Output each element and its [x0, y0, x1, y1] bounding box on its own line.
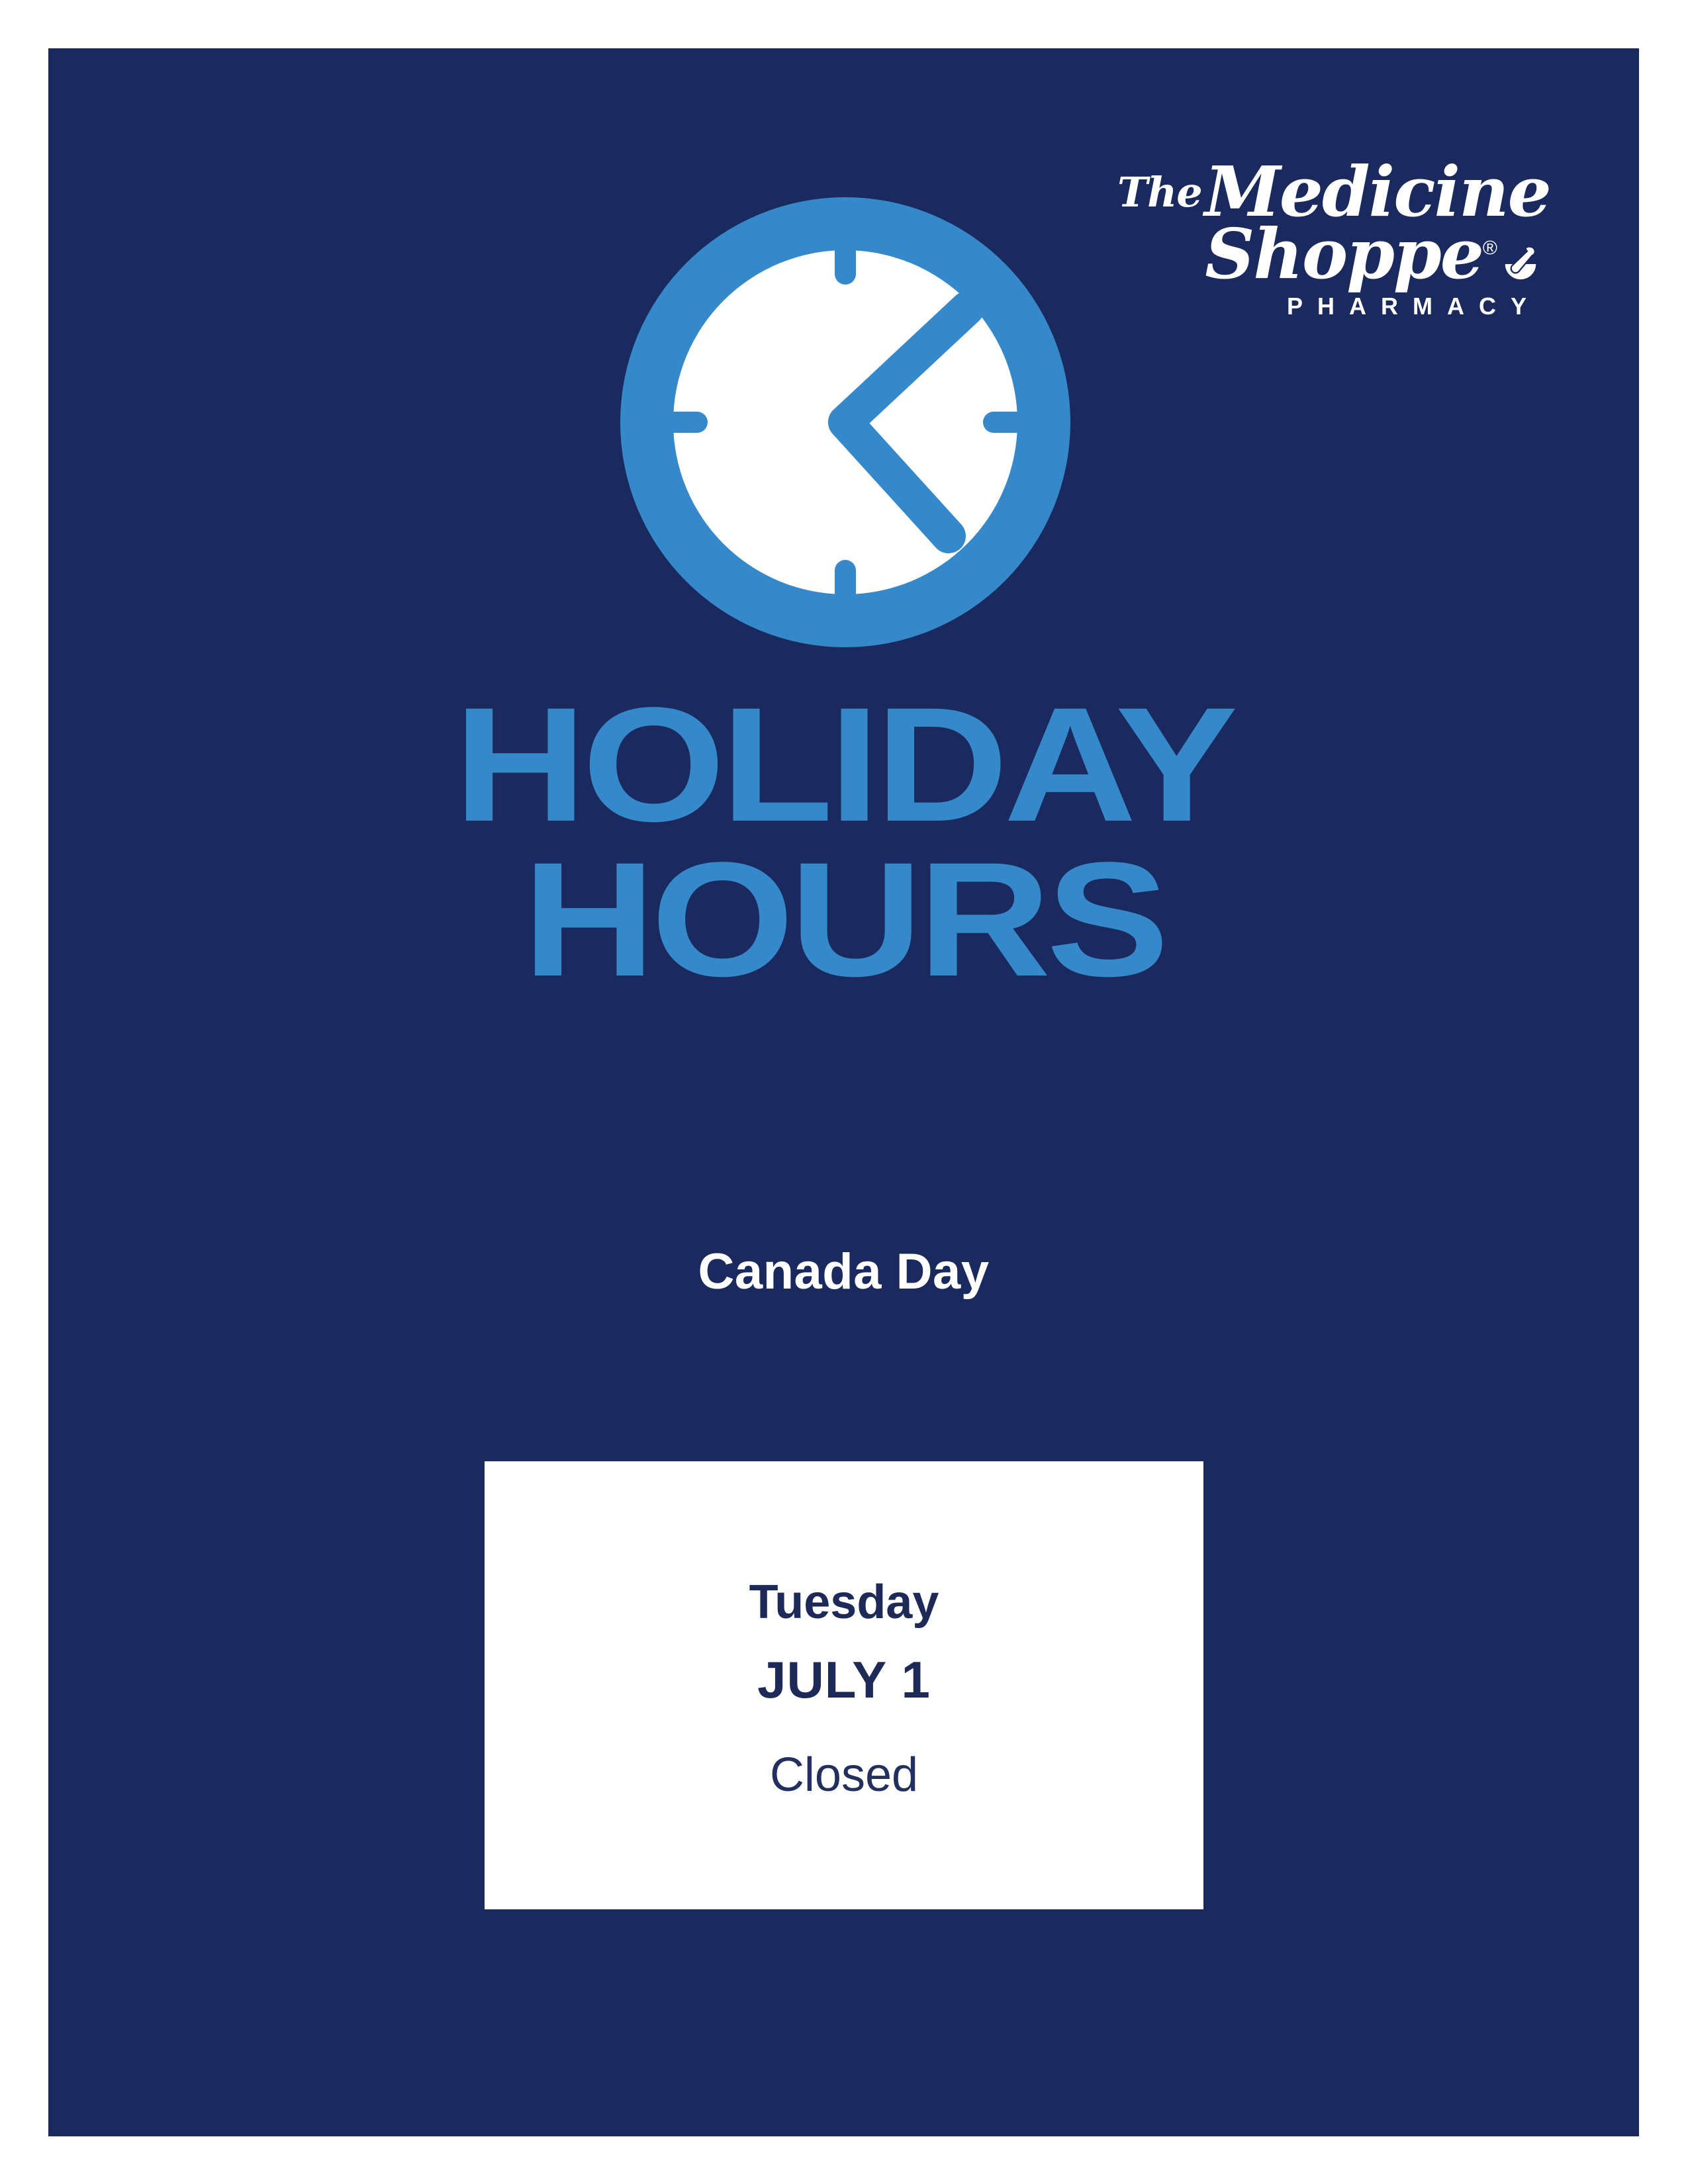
mortar-and-pestle-icon: [1500, 225, 1541, 266]
poster-canvas: TheMedicine Shoppe® PHARMACY HOLIDAY HOU: [48, 48, 1639, 2136]
page-title: HOLIDAY HOURS: [48, 694, 1639, 992]
brand-logo-the: The: [1117, 168, 1205, 216]
holiday-name: Canada Day: [48, 1243, 1639, 1300]
brand-logo-tagline: PHARMACY: [1117, 293, 1541, 320]
date-label: JULY 1: [757, 1652, 931, 1709]
page-title-line-1: HOLIDAY: [48, 694, 1639, 837]
hours-info-card: Tuesday JULY 1 Closed: [485, 1461, 1203, 1909]
status-badge: Closed: [770, 1749, 918, 1801]
brand-logo: TheMedicine Shoppe® PHARMACY: [1117, 158, 1541, 320]
clock-icon: [620, 197, 1070, 647]
poster-page: TheMedicine Shoppe® PHARMACY HOLIDAY HOU: [0, 0, 1688, 2184]
brand-logo-shoppe: Shoppe: [1205, 213, 1483, 295]
brand-logo-line-2: Shoppe®: [1117, 220, 1541, 289]
weekday-label: Tuesday: [749, 1576, 939, 1629]
registered-trademark-icon: ®: [1483, 237, 1497, 259]
page-title-line-2: HOURS: [48, 848, 1639, 991]
